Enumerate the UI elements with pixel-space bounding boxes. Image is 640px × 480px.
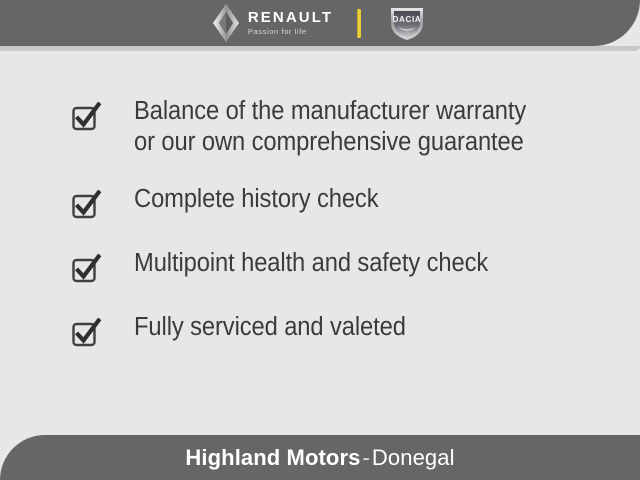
renault-name: RENAULT <box>248 10 333 25</box>
checkbox-checked-icon <box>72 188 108 222</box>
list-item: Complete history check <box>72 184 610 222</box>
header-shadow <box>0 46 640 51</box>
dacia-shield-icon: DACIA <box>385 3 429 43</box>
checkbox-checked-icon <box>72 316 108 350</box>
dealer-location: Donegal <box>372 445 455 470</box>
feature-label: Fully serviced and valeted <box>108 312 406 343</box>
check-cell <box>72 312 108 350</box>
feature-label: Complete history check <box>108 184 378 215</box>
svg-text:DACIA: DACIA <box>393 15 422 24</box>
footer-bar: Highland Motors-Donegal <box>0 435 640 480</box>
feature-label: Balance of the manufacturer warranty or … <box>108 96 526 158</box>
dacia-brand-block: DACIA <box>385 3 429 43</box>
list-item: Multipoint health and safety check <box>72 248 610 286</box>
features-list: Balance of the manufacturer warranty or … <box>72 96 610 350</box>
brand-strip: RENAULT Passion for life <box>0 0 640 46</box>
promo-banner: RENAULT Passion for life <box>0 0 640 480</box>
checkbox-checked-icon <box>72 252 108 286</box>
list-item: Balance of the manufacturer warranty or … <box>72 96 610 158</box>
dealer-separator: - <box>360 445 371 470</box>
list-item: Fully serviced and valeted <box>72 312 610 350</box>
yellow-divider-bar <box>357 9 361 38</box>
renault-tagline: Passion for life <box>248 28 333 36</box>
renault-brand-block: RENAULT Passion for life <box>211 3 333 43</box>
renault-diamond-icon <box>211 3 241 43</box>
check-cell <box>72 184 108 222</box>
feature-label: Multipoint health and safety check <box>108 248 488 279</box>
dealer-banner: Highland Motors-Donegal <box>185 445 454 471</box>
dealer-name: Highland Motors <box>185 445 360 470</box>
checkbox-checked-icon <box>72 100 108 134</box>
check-cell <box>72 248 108 286</box>
renault-wordmark: RENAULT Passion for life <box>248 10 333 36</box>
features-section: Balance of the manufacturer warranty or … <box>0 51 640 431</box>
check-cell <box>72 96 108 134</box>
